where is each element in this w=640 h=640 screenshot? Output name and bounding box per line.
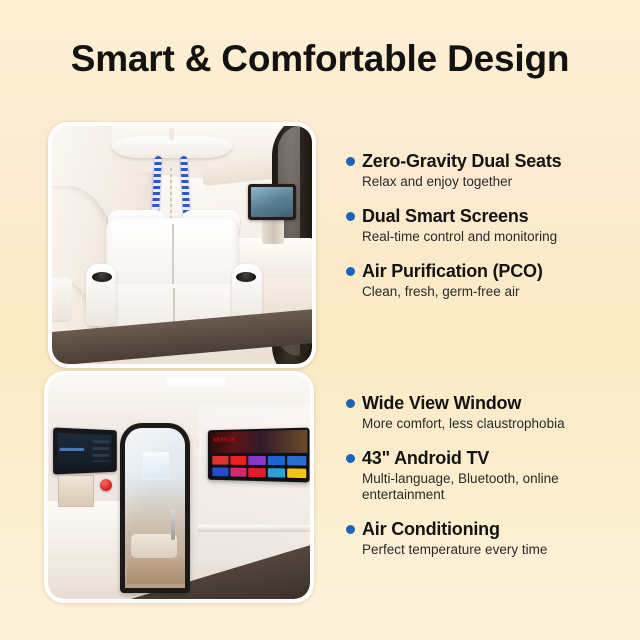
waste-bin bbox=[262, 218, 284, 244]
tv-screen: NETFLIX bbox=[210, 430, 308, 481]
feature-title: Air Purification (PCO) bbox=[362, 260, 624, 282]
tv-app-tile bbox=[248, 468, 265, 477]
tv-app-tile bbox=[212, 467, 228, 476]
feature-description: Multi-language, Bluetooth, online entert… bbox=[362, 471, 624, 503]
bullet-icon bbox=[346, 212, 355, 221]
photo-card-room-tv: NETFLIX bbox=[44, 371, 314, 603]
feature-description: More comfort, less claustrophobia bbox=[362, 416, 624, 432]
tv-app-tile bbox=[230, 468, 247, 477]
control-screen-ui bbox=[57, 433, 111, 469]
feature-list-bottom: Wide View Window More comfort, less clau… bbox=[344, 392, 624, 573]
tv-app-row-2 bbox=[212, 467, 306, 478]
feature-item-zero-gravity-dual-seats: Zero-Gravity Dual Seats Relax and enjoy … bbox=[344, 150, 624, 190]
bullet-icon bbox=[346, 267, 355, 276]
sofa-backrest bbox=[106, 218, 238, 292]
feature-title: Wide View Window bbox=[362, 392, 624, 414]
control-panel-box bbox=[58, 475, 94, 507]
tv-app-tile bbox=[230, 456, 247, 465]
feature-list-top: Zero-Gravity Dual Seats Relax and enjoy … bbox=[344, 150, 624, 315]
glass-entry-door bbox=[120, 423, 190, 593]
glass-glare bbox=[125, 428, 185, 588]
feature-item-air-purification: Air Purification (PCO) Clean, fresh, ger… bbox=[344, 260, 624, 300]
capsule-room-image: NETFLIX bbox=[48, 375, 310, 599]
feature-title: Zero-Gravity Dual Seats bbox=[362, 150, 624, 172]
ceiling-light bbox=[166, 377, 226, 386]
tv-app-tile bbox=[288, 456, 307, 465]
photo-card-dual-seats bbox=[48, 122, 316, 368]
bullet-icon bbox=[346, 525, 355, 534]
bullet-icon bbox=[346, 399, 355, 408]
wall-control-screen bbox=[53, 427, 117, 474]
tv-app-tile bbox=[268, 456, 286, 465]
side-pocket bbox=[52, 276, 72, 322]
wall-monitor-screen bbox=[248, 184, 296, 220]
emergency-button bbox=[100, 479, 112, 491]
feature-item-android-tv: 43" Android TV Multi-language, Bluetooth… bbox=[344, 447, 624, 503]
canopy-stem bbox=[169, 128, 174, 140]
feature-description: Perfect temperature every time bbox=[362, 542, 624, 558]
wall-ledge bbox=[198, 525, 310, 532]
feature-title: Dual Smart Screens bbox=[362, 205, 624, 227]
feature-item-air-conditioning: Air Conditioning Perfect temperature eve… bbox=[344, 518, 624, 558]
tv-app-tile bbox=[288, 468, 307, 478]
promo-page: Smart & Comfortable Design bbox=[0, 0, 640, 640]
capsule-seats-image bbox=[52, 126, 312, 364]
bullet-icon bbox=[346, 157, 355, 166]
tv-app-tile bbox=[212, 456, 228, 465]
feature-description: Real-time control and monitoring bbox=[362, 229, 624, 245]
page-title: Smart & Comfortable Design bbox=[0, 38, 640, 80]
cupholder-left bbox=[92, 272, 112, 282]
bullet-icon bbox=[346, 454, 355, 463]
feature-description: Relax and enjoy together bbox=[362, 174, 624, 190]
android-tv: NETFLIX bbox=[208, 428, 310, 483]
tv-app-tile bbox=[248, 456, 265, 465]
feature-item-dual-smart-screens: Dual Smart Screens Real-time control and… bbox=[344, 205, 624, 245]
tv-app-row-1 bbox=[212, 456, 306, 466]
netflix-logo: NETFLIX bbox=[213, 437, 235, 443]
feature-title: Air Conditioning bbox=[362, 518, 624, 540]
door-handle bbox=[171, 510, 175, 540]
feature-title: 43" Android TV bbox=[362, 447, 624, 469]
tv-app-tile bbox=[268, 468, 286, 478]
monitor-display bbox=[251, 187, 293, 217]
feature-item-wide-view-window: Wide View Window More comfort, less clau… bbox=[344, 392, 624, 432]
cupholder-right bbox=[236, 272, 256, 282]
feature-description: Clean, fresh, germ-free air bbox=[362, 284, 624, 300]
